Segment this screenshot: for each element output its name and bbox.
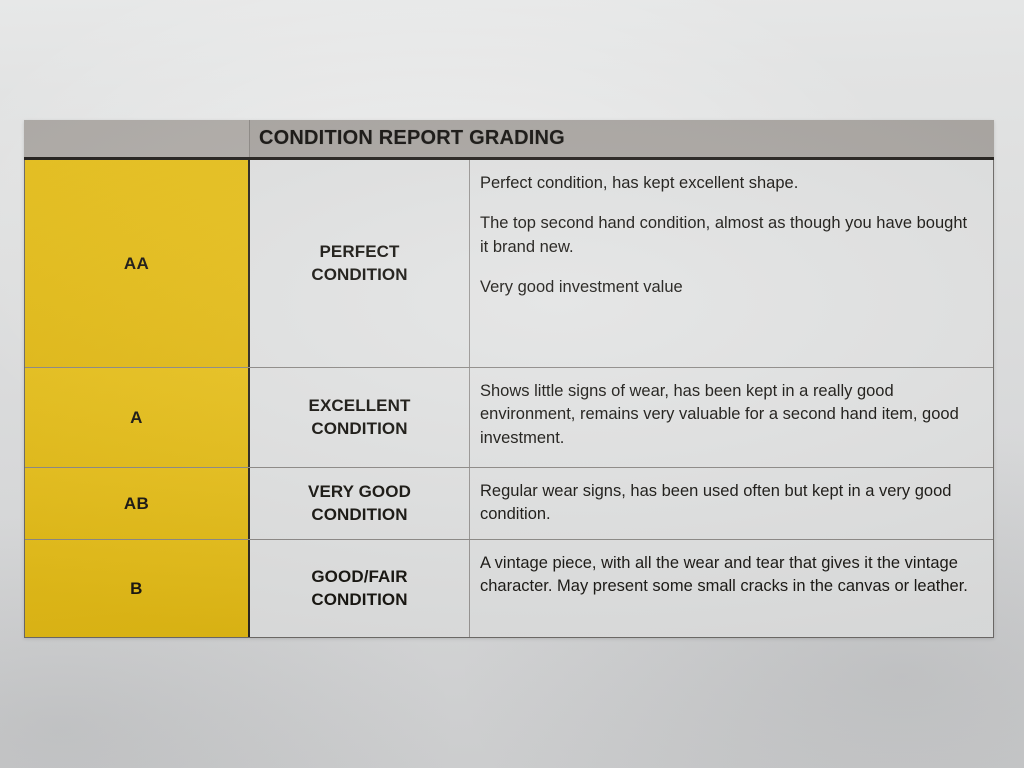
condition-description-b: A vintage piece, with all the wear and t… [470, 540, 993, 637]
table-row: AB VERY GOOD CONDITION Regular wear sign… [25, 468, 993, 540]
condition-name-ab: VERY GOOD CONDITION [250, 468, 470, 539]
grade-code-b: B [25, 540, 250, 637]
table-row: B GOOD/FAIR CONDITION A vintage piece, w… [25, 540, 993, 637]
condition-description-aa: Perfect condition, has kept excellent sh… [470, 160, 993, 367]
condition-report-grading-table: CONDITION REPORT GRADING AA PERFECT COND… [24, 120, 994, 638]
grade-code-a: A [25, 368, 250, 467]
description-paragraph: A vintage piece, with all the wear and t… [480, 552, 979, 599]
grade-code-ab: AB [25, 468, 250, 539]
condition-description-ab: Regular wear signs, has been used often … [470, 468, 993, 539]
table-row: A EXCELLENT CONDITION Shows little signs… [25, 368, 993, 468]
condition-name-line1: EXCELLENT [309, 395, 411, 417]
description-paragraph: Shows little signs of wear, has been kep… [480, 380, 979, 450]
condition-name-aa: PERFECT CONDITION [250, 160, 470, 367]
description-paragraph: Regular wear signs, has been used often … [480, 480, 979, 527]
condition-name-line2: CONDITION [311, 589, 407, 611]
condition-name-line1: VERY GOOD [308, 481, 411, 503]
condition-name-line2: CONDITION [311, 418, 407, 440]
condition-name-line1: PERFECT [319, 241, 399, 263]
condition-name-a: EXCELLENT CONDITION [250, 368, 470, 467]
table-header-row: CONDITION REPORT GRADING [24, 120, 994, 160]
condition-name-line2: CONDITION [311, 264, 407, 286]
description-paragraph: Perfect condition, has kept excellent sh… [480, 172, 979, 195]
condition-description-a: Shows little signs of wear, has been kep… [470, 368, 993, 467]
grade-code-aa: AA [25, 160, 250, 367]
table-title: CONDITION REPORT GRADING [250, 120, 994, 157]
description-paragraph: Very good investment value [480, 276, 979, 299]
condition-name-line2: CONDITION [311, 504, 407, 526]
table-body: AA PERFECT CONDITION Perfect condition, … [24, 160, 994, 638]
description-paragraph: The top second hand condition, almost as… [480, 212, 979, 259]
table-header-left-spacer [24, 120, 250, 157]
condition-name-b: GOOD/FAIR CONDITION [250, 540, 470, 637]
table-row: AA PERFECT CONDITION Perfect condition, … [25, 160, 993, 368]
condition-name-line1: GOOD/FAIR [311, 566, 407, 588]
